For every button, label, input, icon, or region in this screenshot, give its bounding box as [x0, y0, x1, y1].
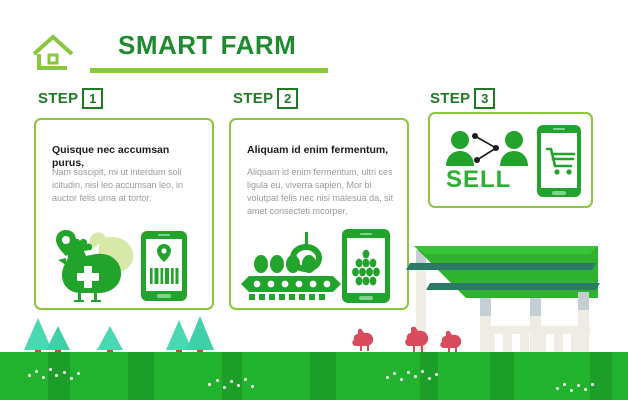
card-body-text: Nam suscipit, mi ut interdum soli icitud…	[52, 166, 200, 205]
ground-stripe	[310, 352, 336, 400]
sell-label: SELL	[446, 166, 511, 194]
page-title: SMART FARM	[118, 30, 296, 61]
ground-stripe	[128, 352, 154, 400]
barn-illustration	[400, 228, 628, 361]
card-body-text: Aliquam id enim fermentum, ultri ces lig…	[247, 166, 395, 218]
chicken-with-cross-icon	[48, 228, 144, 307]
step-word: STEP	[430, 90, 470, 107]
ground-stripe	[490, 352, 514, 400]
phone-cart-icon	[536, 124, 584, 205]
ground-stripe	[48, 352, 70, 400]
step-number: 1	[82, 88, 103, 109]
house-icon	[30, 32, 76, 72]
step-label-3: STEP 3	[430, 88, 495, 109]
title-underline	[90, 68, 328, 73]
step-number: 3	[474, 88, 495, 109]
step-card-1: Quisque nec accumsan purus, Nam suscipit…	[34, 118, 214, 310]
header: SMART FARM	[30, 30, 310, 76]
step-word: STEP	[233, 90, 273, 107]
ground-stripe	[590, 352, 612, 400]
step-label-2: STEP 2	[233, 88, 298, 109]
ground-stripe	[420, 352, 438, 400]
egg-conveyor-icon	[241, 232, 341, 309]
phone-barcode-icon	[140, 230, 190, 309]
step-label-1: STEP 1	[38, 88, 103, 109]
step-card-3: SELL	[428, 112, 593, 208]
ground-stripe	[222, 352, 242, 400]
infographic-canvas: SMART FARM STEP 1 STEP 2 STEP 3 Quisque …	[0, 0, 628, 400]
card-heading: Aliquam id enim fermentum,	[247, 144, 395, 157]
phone-eggs-icon	[341, 228, 393, 311]
step-number: 2	[277, 88, 298, 109]
step-word: STEP	[38, 90, 78, 107]
step-card-2: Aliquam id enim fermentum, Aliquam id en…	[229, 118, 409, 310]
ground	[0, 352, 628, 400]
